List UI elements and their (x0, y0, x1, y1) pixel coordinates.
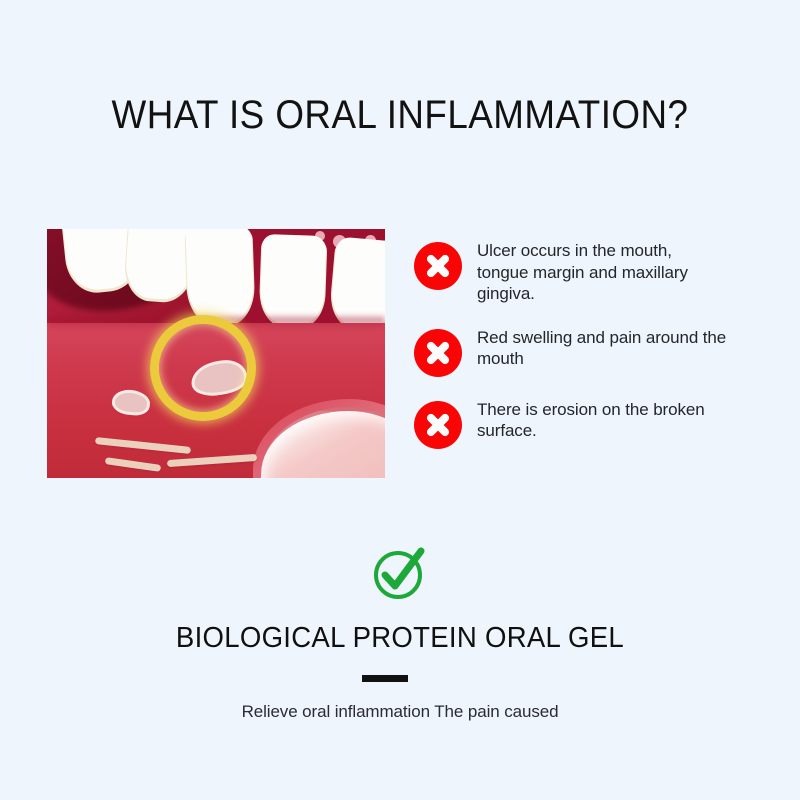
promo-page: WHAT IS ORAL INFLAMMATION? (0, 0, 800, 800)
product-tagline: Relieve oral inflammation The pain cause… (0, 701, 800, 723)
symptom-text: Ulcer occurs in the mouth, tongue margin… (477, 240, 727, 305)
symptom-text: Red swelling and pain around the mouth (477, 327, 727, 370)
list-item: Red swelling and pain around the mouth (414, 327, 744, 377)
red-x-circle-icon (414, 329, 462, 377)
symptom-list: Ulcer occurs in the mouth, tongue margin… (414, 240, 744, 471)
oral-ulcer-illustration (47, 229, 385, 478)
green-check-circle-icon (373, 546, 427, 600)
list-item: There is erosion on the broken surface. (414, 399, 744, 449)
tooth (259, 234, 326, 326)
red-x-circle-icon (414, 242, 462, 290)
highlight-circle-icon (150, 315, 256, 421)
divider (362, 675, 408, 682)
list-item: Ulcer occurs in the mouth, tongue margin… (414, 240, 744, 305)
symptom-text: There is erosion on the broken surface. (477, 399, 727, 442)
red-x-circle-icon (414, 401, 462, 449)
tooth (185, 229, 254, 324)
tooth (329, 236, 385, 329)
product-title: BIOLOGICAL PROTEIN ORAL GEL (20, 621, 780, 655)
page-title: WHAT IS ORAL INFLAMMATION? (32, 92, 768, 138)
